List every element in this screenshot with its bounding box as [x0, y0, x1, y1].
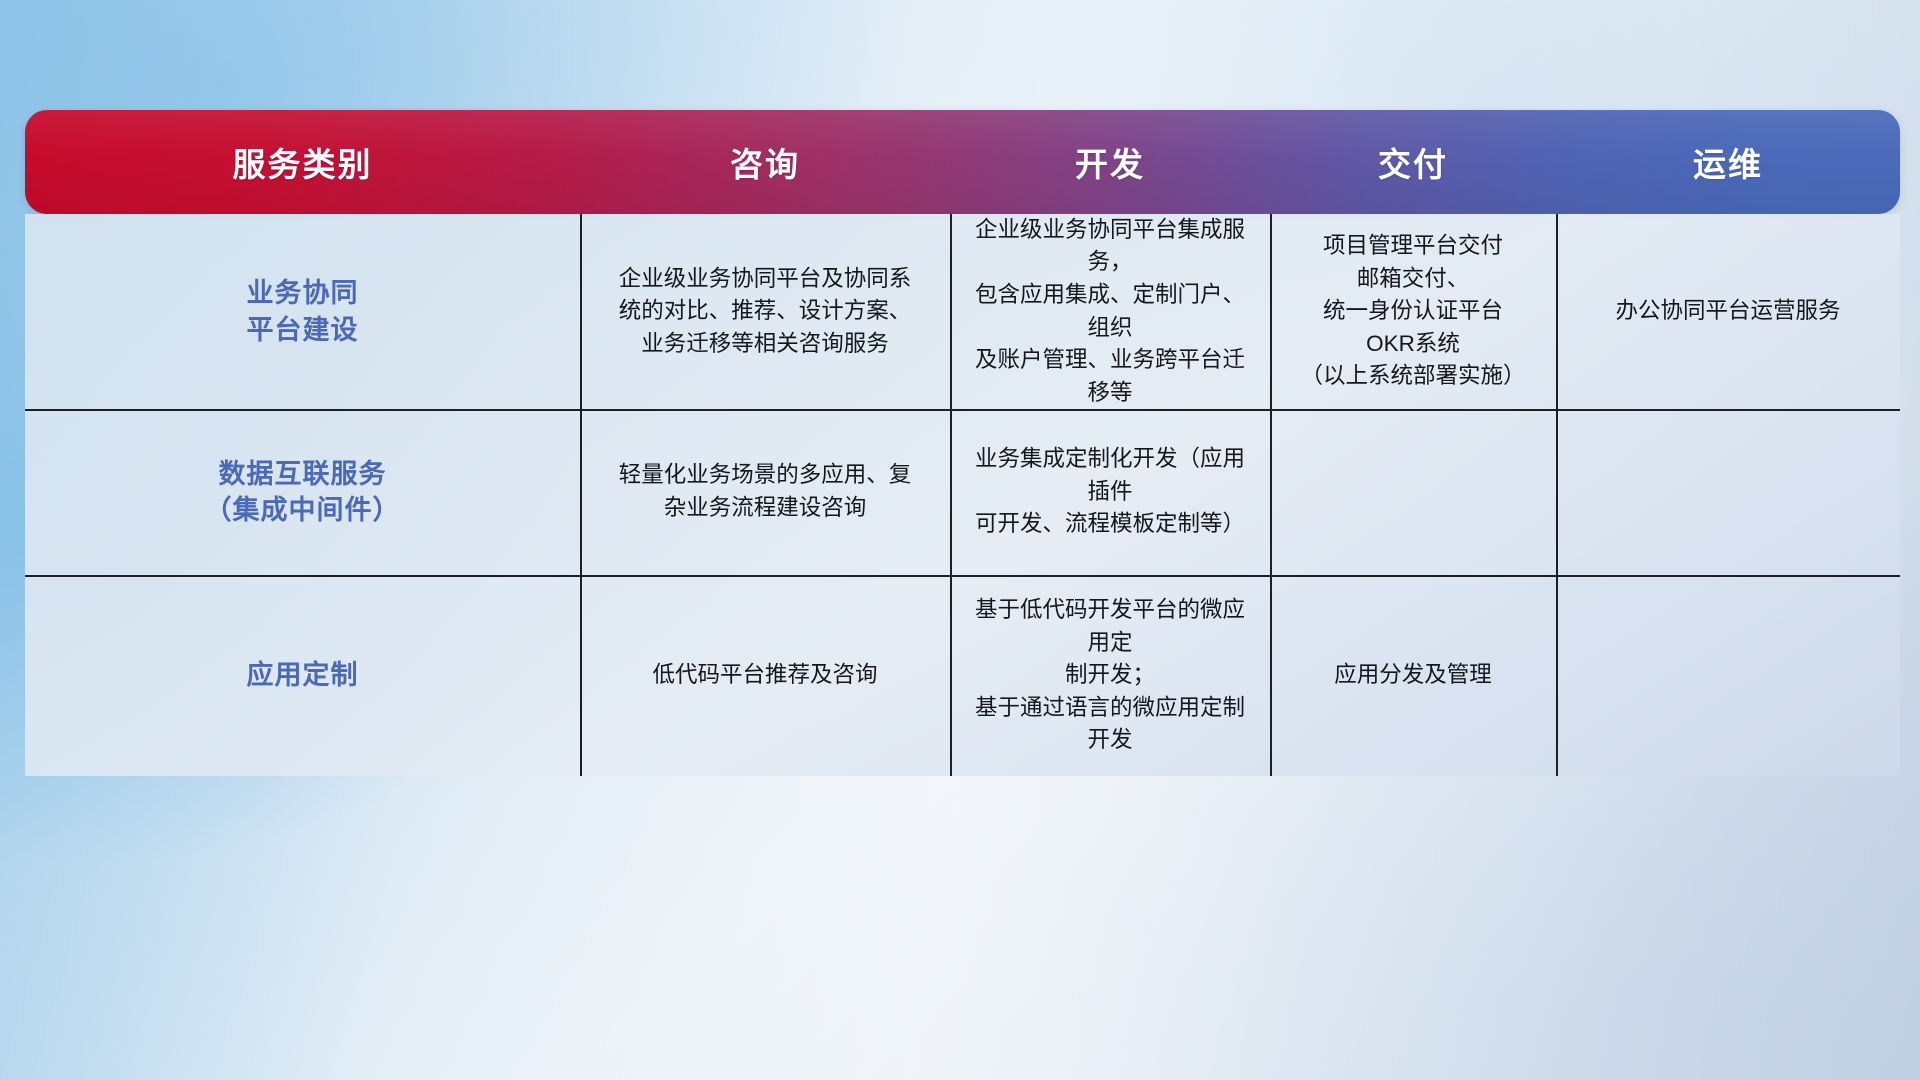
cell-consult-r2: 轻量化业务场景的多应用、复 杂业务流程建设咨询	[580, 409, 950, 575]
table-row: 应用定制 低代码平台推荐及咨询 基于低代码开发平台的微应用定 制开发； 基于通过…	[25, 575, 1900, 776]
row-label-data-interconnect: 数据互联服务 （集成中间件）	[25, 409, 580, 575]
cell-deliver-r3: 应用分发及管理	[1270, 575, 1556, 776]
column-header-develop: 开发	[950, 138, 1270, 186]
column-header-ops: 运维	[1556, 138, 1900, 186]
cell-ops-r1: 办公协同平台运营服务	[1556, 214, 1900, 409]
column-header-deliver: 交付	[1270, 138, 1556, 186]
cell-ops-r3	[1556, 575, 1900, 776]
service-matrix-table: 服务类别 咨询 开发 交付 运维 业务协同 平台建设 企业级业务协同平台及协同系…	[25, 110, 1900, 776]
table-row: 数据互联服务 （集成中间件） 轻量化业务场景的多应用、复 杂业务流程建设咨询 业…	[25, 409, 1900, 575]
cell-consult-r3: 低代码平台推荐及咨询	[580, 575, 950, 776]
cell-develop-r3: 基于低代码开发平台的微应用定 制开发； 基于通过语言的微应用定制开发	[950, 575, 1270, 776]
row-label-business-collab: 业务协同 平台建设	[25, 214, 580, 409]
cell-ops-r2	[1556, 409, 1900, 575]
cell-deliver-r1: 项目管理平台交付 邮箱交付、 统一身份认证平台 OKR系统 （以上系统部署实施）	[1270, 214, 1556, 409]
cell-develop-r2: 业务集成定制化开发（应用插件 可开发、流程模板定制等）	[950, 409, 1270, 575]
cell-consult-r1: 企业级业务协同平台及协同系 统的对比、推荐、设计方案、 业务迁移等相关咨询服务	[580, 214, 950, 409]
cell-develop-r1: 企业级业务协同平台集成服务， 包含应用集成、定制门户、组织 及账户管理、业务跨平…	[950, 214, 1270, 409]
table-row: 业务协同 平台建设 企业级业务协同平台及协同系 统的对比、推荐、设计方案、 业务…	[25, 214, 1900, 409]
column-header-consult: 咨询	[580, 138, 950, 186]
table-header-row: 服务类别 咨询 开发 交付 运维	[25, 110, 1900, 214]
column-header-category: 服务类别	[25, 138, 580, 186]
table-body: 业务协同 平台建设 企业级业务协同平台及协同系 统的对比、推荐、设计方案、 业务…	[25, 214, 1900, 776]
row-label-app-customization: 应用定制	[25, 575, 580, 776]
cell-deliver-r2	[1270, 409, 1556, 575]
